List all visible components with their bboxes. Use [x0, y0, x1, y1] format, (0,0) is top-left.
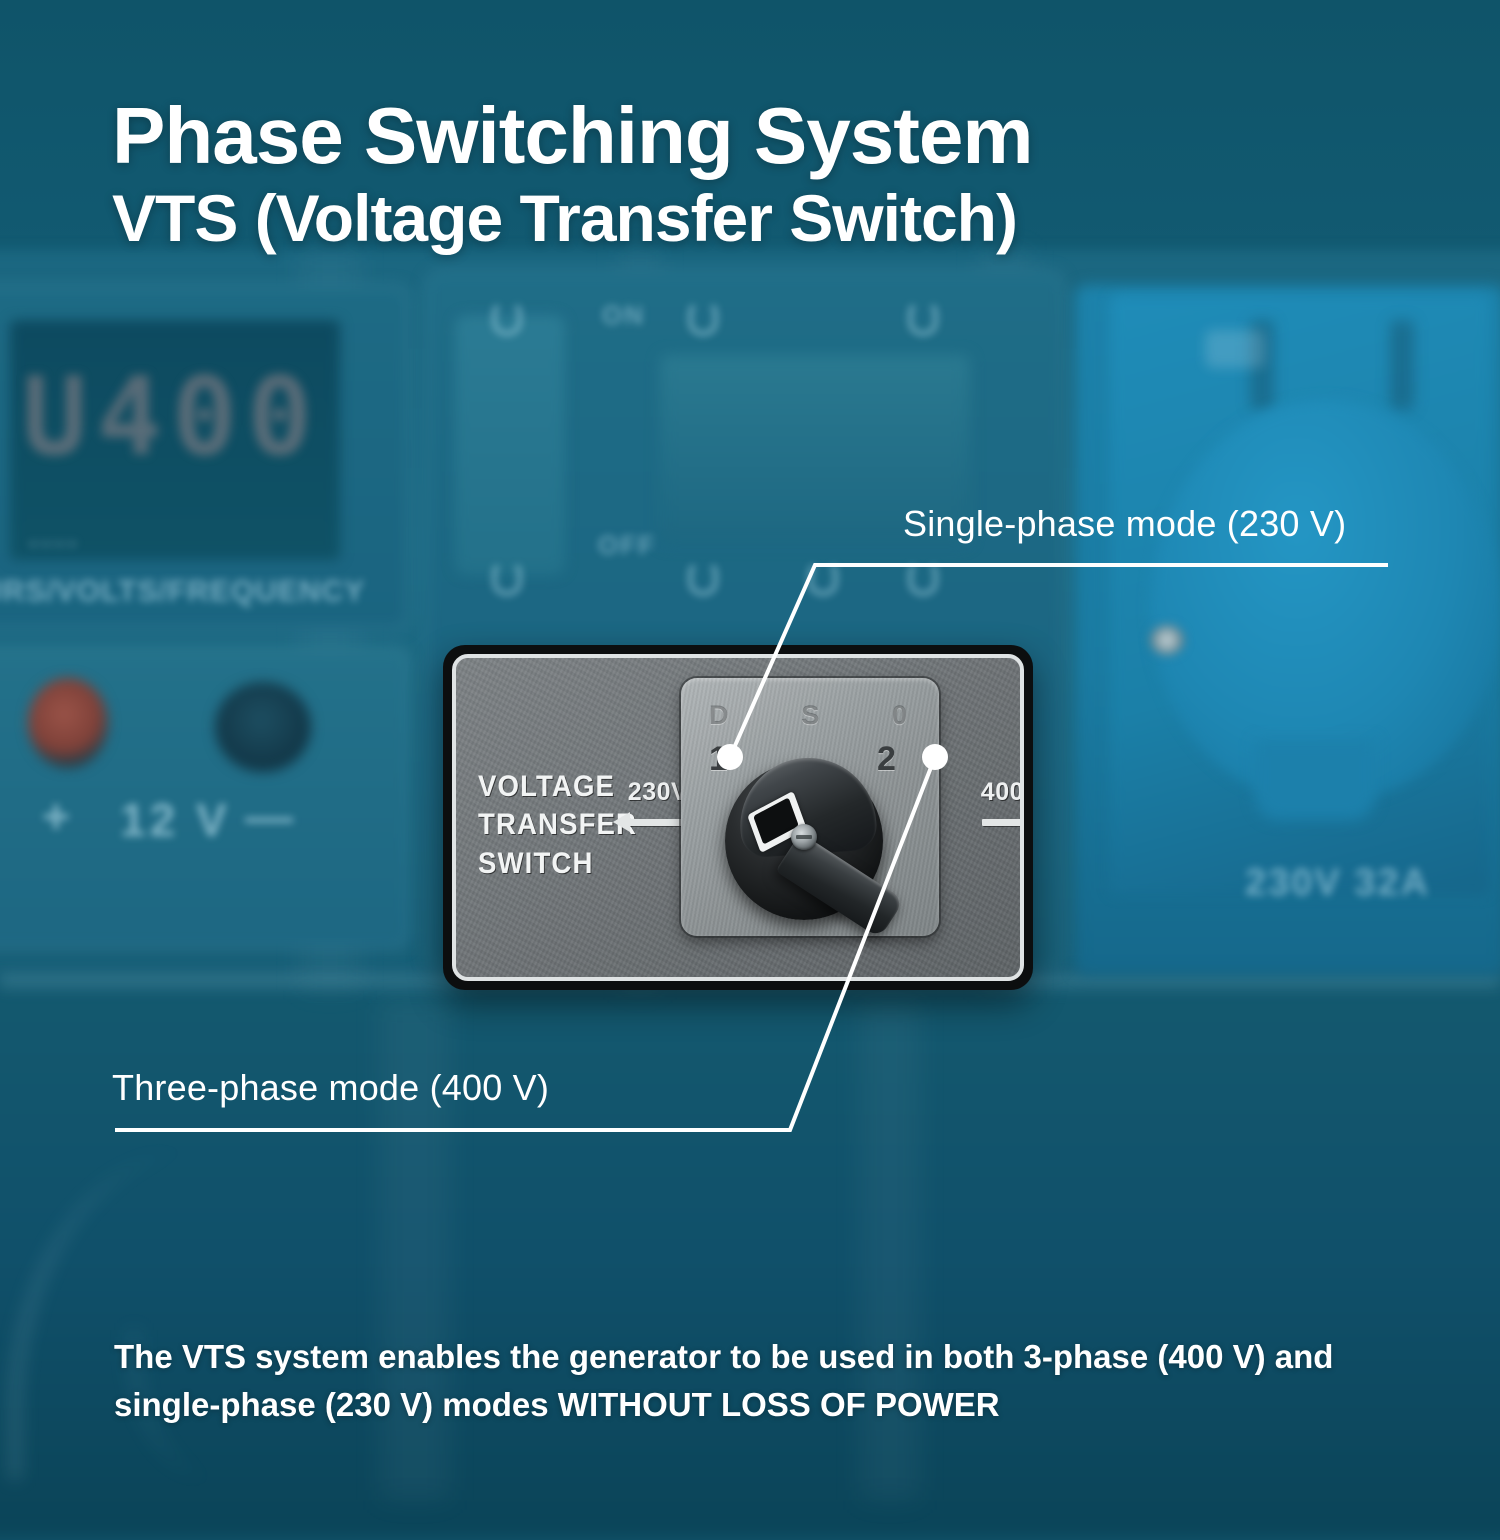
breaker-socket-icon — [808, 560, 838, 596]
breaker-socket-icon — [492, 300, 522, 336]
breaker-socket-icon — [908, 300, 938, 336]
callout-label-single-phase: Single-phase mode (230 V) — [903, 503, 1346, 545]
meter-digits: U400 — [22, 355, 322, 465]
breaker-socket-icon — [688, 300, 718, 336]
socket-rating-label: 230V 32A — [1245, 862, 1430, 905]
voltage-transfer-switch-panel[interactable]: VOLTAGE TRANSFER SWITCH 230V 400V D S 0 … — [443, 645, 1033, 990]
page-title: Phase Switching System VTS (Voltage Tran… — [112, 96, 1412, 256]
rotary-knob[interactable] — [725, 762, 883, 920]
main-breaker-blurred — [455, 315, 565, 575]
emboss-char-s: S — [801, 700, 821, 731]
breaker-off-label: OFF — [598, 530, 656, 561]
rotary-switch-plate[interactable]: D S 0 1 2 — [681, 678, 939, 936]
emboss-char-0: 0 — [892, 700, 909, 731]
terminal-voltage-label: 12 V — [120, 793, 231, 847]
title-line-2: VTS (Voltage Transfer Switch) — [112, 182, 1412, 256]
breaker-socket-icon — [492, 560, 522, 596]
title-line-1: Phase Switching System — [112, 96, 1412, 176]
breaker-on-label: ON — [602, 300, 645, 331]
knob-center-screw-icon — [791, 824, 817, 850]
socket-screw-icon — [1150, 625, 1184, 655]
meter-sub-text: wwww — [28, 535, 79, 552]
terminal-minus-label: — — [245, 790, 293, 845]
breaker-socket-icon — [688, 560, 718, 596]
vts-panel-inner: VOLTAGE TRANSFER SWITCH 230V 400V D S 0 … — [452, 654, 1024, 981]
emboss-char-d: D — [709, 700, 731, 731]
callout-label-three-phase: Three-phase mode (400 V) — [112, 1067, 549, 1109]
terminal-plus-label: + — [42, 790, 70, 845]
socket-slot-icon — [1390, 320, 1414, 410]
arrow-right-icon — [961, 807, 1024, 837]
meter-caption-text: URS/VOLTS/FREQUENCY — [0, 575, 400, 609]
vts-label-line-3: SWITCH — [478, 845, 637, 883]
positive-terminal-icon — [28, 678, 108, 768]
caption-text: The VTS system enables the generator to … — [114, 1333, 1414, 1429]
breaker-socket-icon — [908, 560, 938, 596]
negative-terminal-icon — [215, 682, 311, 772]
voltage-400-marker: 400V — [961, 778, 1024, 837]
socket-hinge-icon — [1205, 330, 1265, 368]
voltage-400-label: 400V — [961, 778, 1024, 807]
plate-emboss-markings: D S 0 — [709, 700, 909, 731]
socket-latch-icon — [1255, 740, 1375, 820]
